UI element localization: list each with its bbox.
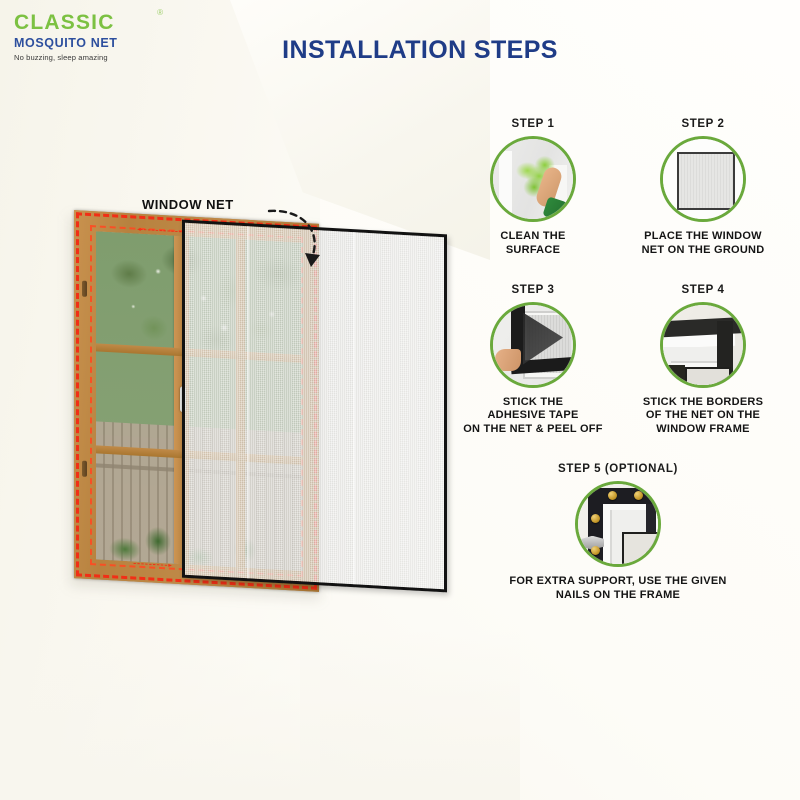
mesh-square-icon [663,139,743,219]
window-net-label: WINDOW NET [142,197,234,212]
step-2-title: STEP 2 [628,118,778,130]
step-2-caption-line2: NET ON THE GROUND [628,244,778,258]
installation-steps: STEP 1 CLEAN THE SURFACE STEP 2 PLACE TH… [448,118,788,602]
step-1-caption-line1: CLEAN THE [458,230,608,244]
nail-icon [634,491,643,500]
net-seam [353,232,355,584]
step-4-image [660,302,746,388]
background-floor [0,630,520,800]
net-mesh-texture [185,223,444,589]
step-1-title: STEP 1 [458,118,608,130]
net-seam [247,226,249,578]
step-1-caption: CLEAN THE SURFACE [458,230,608,258]
step-1-caption-line2: SURFACE [458,244,608,258]
step-3-title: STEP 3 [458,284,608,296]
nails-on-frame-icon [578,484,658,564]
window-hinge [82,281,87,297]
step-4[interactable]: STEP 4 STICK THE BORDERS OF THE NET ON T… [628,284,778,437]
nail-icon [591,546,600,555]
brand-name: CLASSIC [14,12,115,33]
hand-peeling-tape-icon [493,305,573,385]
step-5-caption: FOR EXTRA SUPPORT, USE THE GIVEN NAILS O… [448,575,788,603]
window-net-pointer-arrow [265,203,335,271]
step-5-caption-line1: FOR EXTRA SUPPORT, USE THE GIVEN [448,575,788,589]
step-1[interactable]: STEP 1 CLEAN THE SURFACE [458,118,608,258]
steps-row-1: STEP 1 CLEAN THE SURFACE STEP 2 PLACE TH… [448,118,788,258]
step-4-caption-line2: OF THE NET ON THE [628,409,778,423]
step-2-image [660,136,746,222]
step-2-caption: PLACE THE WINDOW NET ON THE GROUND [628,230,778,258]
step-1-image [490,136,576,222]
mosquito-net-panel [182,220,447,593]
step-5-image [575,481,661,567]
step-4-caption: STICK THE BORDERS OF THE NET ON THE WIND… [628,396,778,437]
step-5-caption-line2: NAILS ON THE FRAME [448,589,788,603]
step-2[interactable]: STEP 2 PLACE THE WINDOW NET ON THE GROUN… [628,118,778,258]
window-hinge [82,461,87,477]
step-3-caption: STICK THE ADHESIVE TAPE ON THE NET & PEE… [458,396,608,437]
step-4-title: STEP 4 [628,284,778,296]
step-3-caption-line1: STICK THE [458,396,608,410]
step-5[interactable]: STEP 5 (OPTIONAL) FOR EXTRA SUPPORT, USE… [448,463,788,603]
step-3[interactable]: STEP 3 STICK THE ADHESIVE TAPE ON THE NE… [458,284,608,437]
steps-row-2: STEP 3 STICK THE ADHESIVE TAPE ON THE NE… [448,284,788,437]
nail-icon [591,514,600,523]
step-2-caption-line1: PLACE THE WINDOW [628,230,778,244]
step-3-caption-line2: ADHESIVE TAPE [458,409,608,423]
registered-trademark-icon: ® [157,8,163,17]
step-4-caption-line3: WINDOW FRAME [628,423,778,437]
step-3-image [490,302,576,388]
net-on-frame-icon [663,305,743,385]
hand-wiping-cloth-icon [493,139,573,219]
window-illustration: WINDOW NET [60,205,450,625]
step-3-caption-line3: ON THE NET & PEEL OFF [458,423,608,437]
step-4-caption-line1: STICK THE BORDERS [628,396,778,410]
nail-icon [608,491,617,500]
page-title: INSTALLATION STEPS [0,36,800,65]
step-5-title: STEP 5 (OPTIONAL) [448,463,788,475]
steps-row-3: STEP 5 (OPTIONAL) FOR EXTRA SUPPORT, USE… [448,463,788,603]
